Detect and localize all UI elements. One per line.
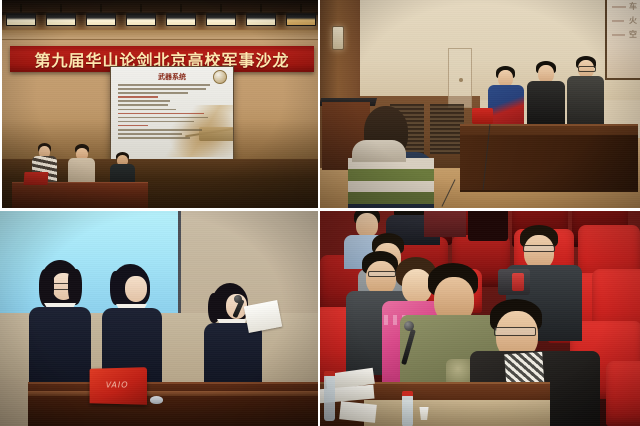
hood: [352, 140, 406, 162]
ceiling-light-icon: [86, 13, 116, 26]
glasses-icon: [494, 327, 536, 336]
bottle-cap: [324, 371, 335, 376]
collage-panel-top-right[interactable]: 车 火 空: [320, 0, 640, 208]
stage-presentation-scene: 第九届华山论剑北京高校军事沙龙 武器系统: [2, 0, 318, 208]
audience-table-top: [364, 400, 550, 426]
women-presenters-scene: VAIO: [0, 211, 318, 426]
wall-moulding: [2, 30, 318, 40]
slide-body-text: [118, 84, 210, 141]
red-laptop: VAIO: [90, 367, 147, 405]
water-bottle: [402, 395, 413, 426]
tissue: [339, 401, 377, 423]
red-bag: [472, 108, 493, 124]
stage-table: [12, 182, 148, 208]
ceiling-light-icon: [286, 13, 316, 26]
side-screen-char-2: 火: [629, 15, 637, 26]
photo-collage: 第九届华山论剑北京高校军事沙龙 武器系统: [0, 0, 640, 426]
mobile-phone: [512, 273, 524, 291]
collage-panel-top-left[interactable]: 第九届华山论剑北京高校军事沙龙 武器系统: [2, 0, 318, 208]
side-screen-char-1: 车: [629, 1, 637, 12]
red-laptop: [24, 172, 49, 185]
collage-panel-bottom-right[interactable]: [320, 211, 640, 426]
ceiling-light-icon: [166, 13, 196, 26]
door-knob-icon: [459, 78, 463, 82]
bottle-cap: [402, 391, 413, 396]
collage-panel-bottom-left[interactable]: VAIO: [0, 211, 318, 426]
slide-logo-icon: [213, 70, 227, 84]
audience-scene: [320, 211, 640, 426]
side-projection-screen: 车 火 空: [605, 0, 640, 80]
foreground-listener: [340, 96, 440, 208]
glasses-icon: [368, 271, 396, 277]
side-screen-char-3: 空: [629, 29, 637, 40]
wall-sconce-icon: [332, 26, 344, 50]
ceiling-light-icon: [6, 13, 36, 26]
table-edge: [28, 391, 318, 396]
glasses-icon: [578, 66, 596, 72]
seat-shadow: [468, 211, 508, 241]
ceiling-light-icon: [126, 13, 156, 26]
microphone-head-icon: [234, 295, 242, 303]
computer-mouse: [150, 396, 163, 404]
auditorium-seat: [606, 361, 640, 426]
ceiling-light-icon: [46, 13, 76, 26]
presenter-table: [28, 382, 318, 426]
water-bottle: [324, 375, 335, 421]
projection-screen: 武器系统: [110, 66, 234, 160]
laptop-brand-label: VAIO: [106, 381, 129, 390]
glasses-icon: [523, 245, 555, 252]
projection-screen: [0, 211, 181, 316]
ceiling-light-icon: [206, 13, 236, 26]
student-panel-scene: 车 火 空: [320, 0, 640, 208]
ceiling-light-icon: [246, 13, 276, 26]
microphone-head-icon: [404, 321, 414, 331]
